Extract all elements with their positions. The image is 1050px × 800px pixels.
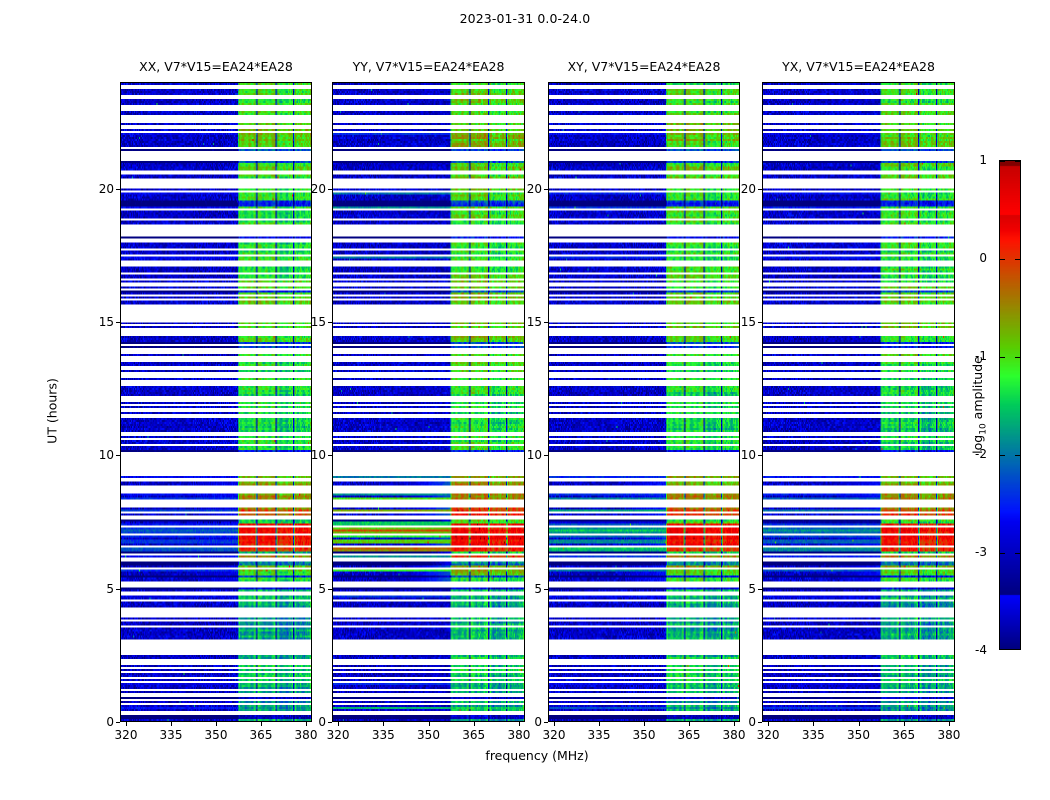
waterfall-panel-xx[interactable]: XX, V7*V15=EA24*EA28 3203353503653800510… <box>120 82 312 722</box>
x-tick-mark <box>519 722 520 726</box>
x-tick-label: 320 <box>115 728 138 742</box>
panel-plot-area-yx[interactable] <box>762 82 955 722</box>
x-tick-mark <box>306 722 307 726</box>
colorbar[interactable] <box>999 160 1021 650</box>
y-tick-mark <box>116 455 120 456</box>
x-tick-label: 320 <box>543 728 566 742</box>
y-tick-mark <box>758 455 762 456</box>
y-tick-label: 15 <box>99 315 114 329</box>
colorbar-tick-mark <box>1015 553 1020 554</box>
x-tick-label: 380 <box>295 728 318 742</box>
waterfall-panel-yx[interactable]: YX, V7*V15=EA24*EA28 3203353503653800510… <box>762 82 955 722</box>
colorbar-tick-mark <box>1015 357 1020 358</box>
y-tick-label: 10 <box>311 448 326 462</box>
y-tick-mark <box>544 189 548 190</box>
x-tick-label: 320 <box>757 728 780 742</box>
y-tick-mark <box>116 589 120 590</box>
colorbar-tick-label: -1 <box>975 349 987 363</box>
y-tick-mark <box>328 589 332 590</box>
x-tick-mark <box>383 722 384 726</box>
y-tick-mark <box>758 322 762 323</box>
y-tick-label: 0 <box>534 715 542 729</box>
colorbar-gradient <box>1000 161 1020 649</box>
x-tick-label: 335 <box>160 728 183 742</box>
y-tick-label: 15 <box>311 315 326 329</box>
y-tick-label: 5 <box>534 582 542 596</box>
y-tick-label: 5 <box>106 582 114 596</box>
figure-suptitle: 2023-01-31 0.0-24.0 <box>0 11 1050 26</box>
panel-title-yx: YX, V7*V15=EA24*EA28 <box>782 59 935 74</box>
y-tick-mark <box>328 722 332 723</box>
waterfall-image-yy <box>333 83 524 721</box>
y-tick-mark <box>544 455 548 456</box>
x-tick-mark <box>859 722 860 726</box>
panel-plot-area-xy[interactable] <box>548 82 740 722</box>
y-tick-label: 5 <box>318 582 326 596</box>
x-tick-mark <box>949 722 950 726</box>
y-tick-label: 0 <box>748 715 756 729</box>
panel-title-yy: YY, V7*V15=EA24*EA28 <box>353 59 505 74</box>
colorbar-tick-mark <box>1000 259 1005 260</box>
colorbar-label-sub: 10 <box>978 423 988 434</box>
x-tick-mark <box>338 722 339 726</box>
x-tick-label: 365 <box>892 728 915 742</box>
x-tick-mark <box>171 722 172 726</box>
x-tick-label: 335 <box>372 728 395 742</box>
colorbar-tick-mark <box>1015 455 1020 456</box>
y-tick-mark <box>328 322 332 323</box>
panel-title-xx: XX, V7*V15=EA24*EA28 <box>139 59 293 74</box>
colorbar-tick-label: -3 <box>975 545 987 559</box>
x-tick-mark <box>734 722 735 726</box>
colorbar-tick-mark <box>1000 161 1005 162</box>
colorbar-tick-mark <box>1000 357 1005 358</box>
y-tick-mark <box>116 189 120 190</box>
colorbar-tick-label: 1 <box>979 153 987 167</box>
y-tick-mark <box>544 589 548 590</box>
y-tick-label: 20 <box>311 182 326 196</box>
y-tick-label: 10 <box>99 448 114 462</box>
x-tick-mark <box>904 722 905 726</box>
y-tick-label: 10 <box>741 448 756 462</box>
colorbar-label: log10 amplitude <box>970 356 989 454</box>
x-tick-label: 380 <box>723 728 746 742</box>
x-tick-label: 365 <box>678 728 701 742</box>
x-tick-label: 380 <box>938 728 961 742</box>
x-tick-label: 335 <box>802 728 825 742</box>
x-tick-label: 350 <box>633 728 656 742</box>
x-tick-label: 365 <box>250 728 273 742</box>
figure-canvas: 2023-01-31 0.0-24.0 XX, V7*V15=EA24*EA28… <box>0 0 1050 800</box>
y-tick-mark <box>544 722 548 723</box>
y-tick-mark <box>758 189 762 190</box>
x-tick-mark <box>429 722 430 726</box>
y-tick-mark <box>544 322 548 323</box>
y-tick-label: 15 <box>741 315 756 329</box>
y-tick-label: 5 <box>748 582 756 596</box>
colorbar-tick-mark <box>1000 553 1005 554</box>
colorbar-tick-label: 0 <box>979 251 987 265</box>
x-tick-label: 350 <box>417 728 440 742</box>
panel-plot-area-yy[interactable] <box>332 82 525 722</box>
colorbar-tick-label: -2 <box>975 447 987 461</box>
x-tick-mark <box>474 722 475 726</box>
x-tick-mark <box>689 722 690 726</box>
x-tick-label: 350 <box>205 728 228 742</box>
y-tick-mark <box>758 589 762 590</box>
x-tick-label: 335 <box>588 728 611 742</box>
y-tick-label: 10 <box>527 448 542 462</box>
x-tick-mark <box>554 722 555 726</box>
y-axis-label: UT (hours) <box>45 378 60 444</box>
x-tick-mark <box>813 722 814 726</box>
colorbar-tick-mark <box>1000 455 1005 456</box>
x-tick-label: 365 <box>462 728 485 742</box>
x-tick-mark <box>126 722 127 726</box>
colorbar-tick-label: -4 <box>975 643 987 657</box>
waterfall-panel-xy[interactable]: XY, V7*V15=EA24*EA28 3203353503653800510… <box>548 82 740 722</box>
x-tick-mark <box>644 722 645 726</box>
x-tick-label: 350 <box>847 728 870 742</box>
y-tick-label: 0 <box>106 715 114 729</box>
y-tick-label: 20 <box>527 182 542 196</box>
waterfall-image-xx <box>121 83 311 721</box>
y-tick-label: 20 <box>741 182 756 196</box>
waterfall-image-yx <box>763 83 954 721</box>
y-tick-mark <box>328 189 332 190</box>
colorbar-tick-mark <box>1015 259 1020 260</box>
y-tick-mark <box>758 722 762 723</box>
waterfall-panel-yy[interactable]: YY, V7*V15=EA24*EA28 3203353503653800510… <box>332 82 525 722</box>
y-tick-label: 15 <box>527 315 542 329</box>
colorbar-label-tail: amplitude <box>970 356 985 423</box>
x-axis-label: frequency (MHz) <box>485 748 588 763</box>
y-tick-mark <box>116 722 120 723</box>
x-tick-label: 380 <box>508 728 531 742</box>
x-tick-label: 320 <box>327 728 350 742</box>
x-tick-mark <box>599 722 600 726</box>
x-tick-mark <box>261 722 262 726</box>
panel-title-xy: XY, V7*V15=EA24*EA28 <box>568 59 721 74</box>
y-tick-label: 20 <box>99 182 114 196</box>
waterfall-image-xy <box>549 83 739 721</box>
y-tick-mark <box>116 322 120 323</box>
x-tick-mark <box>216 722 217 726</box>
y-tick-label: 0 <box>318 715 326 729</box>
colorbar-tick-mark <box>1015 161 1020 162</box>
panel-plot-area-xx[interactable] <box>120 82 312 722</box>
y-tick-mark <box>328 455 332 456</box>
x-tick-mark <box>768 722 769 726</box>
